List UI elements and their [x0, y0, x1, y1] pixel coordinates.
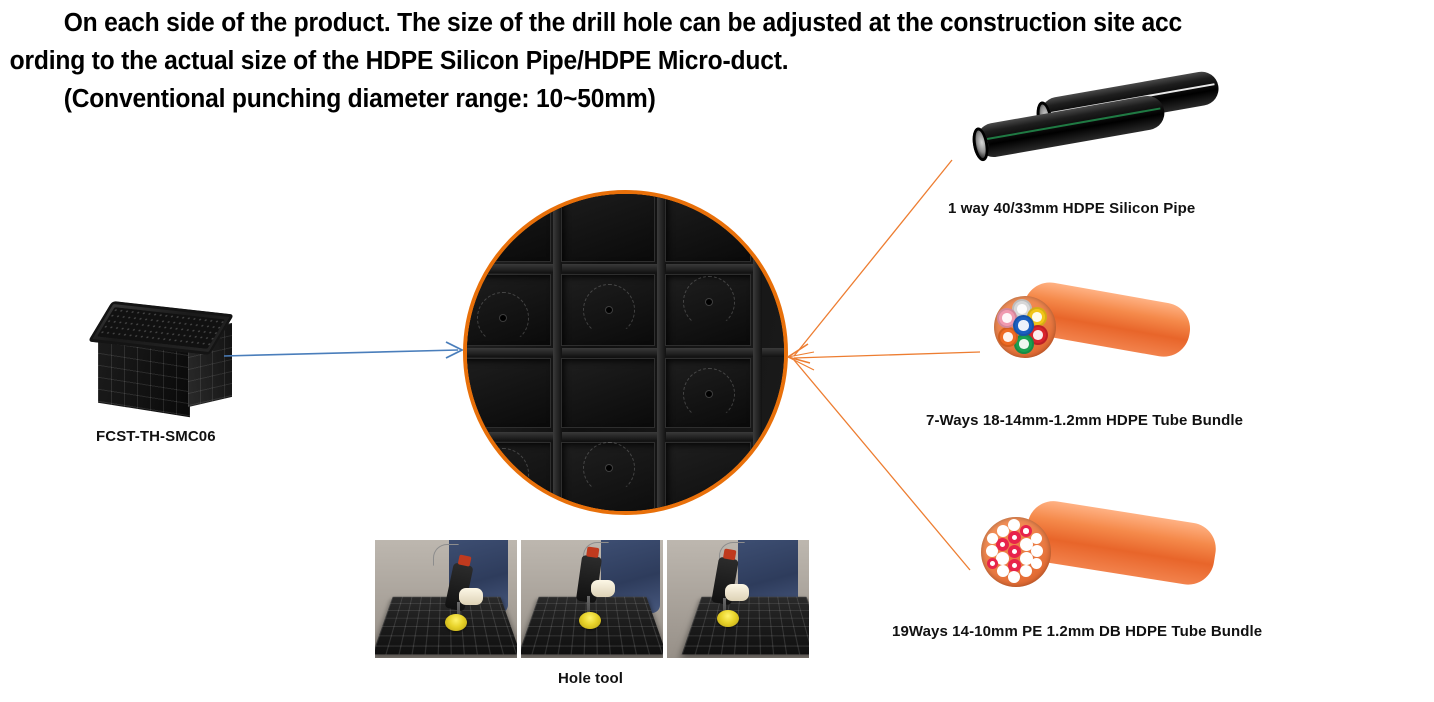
hole-tool-photo-strip	[375, 540, 809, 658]
smc-box-image	[88, 300, 234, 418]
knockout-marking	[477, 292, 529, 344]
hdpe-7way-bundle-image	[988, 272, 1193, 382]
hdpe-19way-bundle-image	[975, 495, 1220, 610]
knockout-marking	[477, 448, 529, 500]
hdpe-silicon-pipe-image	[955, 92, 1225, 192]
product-label-3: 19Ways 14-10mm PE 1.2mm DB HDPE Tube Bun…	[892, 623, 1262, 640]
magnified-detail-circle	[463, 190, 788, 515]
header-line-2: ording to the actual size of the HDPE Si…	[0, 42, 1384, 80]
drilling-step-2-photo	[521, 540, 663, 658]
product-label-2: 7-Ways 18-14mm-1.2mm HDPE Tube Bundle	[926, 412, 1243, 429]
knockout-marking	[683, 368, 735, 420]
box-to-detail-arrow	[222, 334, 470, 368]
knockout-marking	[683, 276, 735, 328]
header-line-1: On each side of the product. The size of…	[0, 4, 1384, 42]
product-label-1: 1 way 40/33mm HDPE Silicon Pipe	[948, 200, 1195, 217]
drilling-step-1-photo	[375, 540, 517, 658]
left-product-label: FCST-TH-SMC06	[96, 428, 216, 445]
knockout-marking	[583, 442, 635, 494]
knockout-marking	[583, 284, 635, 336]
drilling-step-3-photo	[667, 540, 809, 658]
hole-tool-caption: Hole tool	[558, 670, 623, 687]
